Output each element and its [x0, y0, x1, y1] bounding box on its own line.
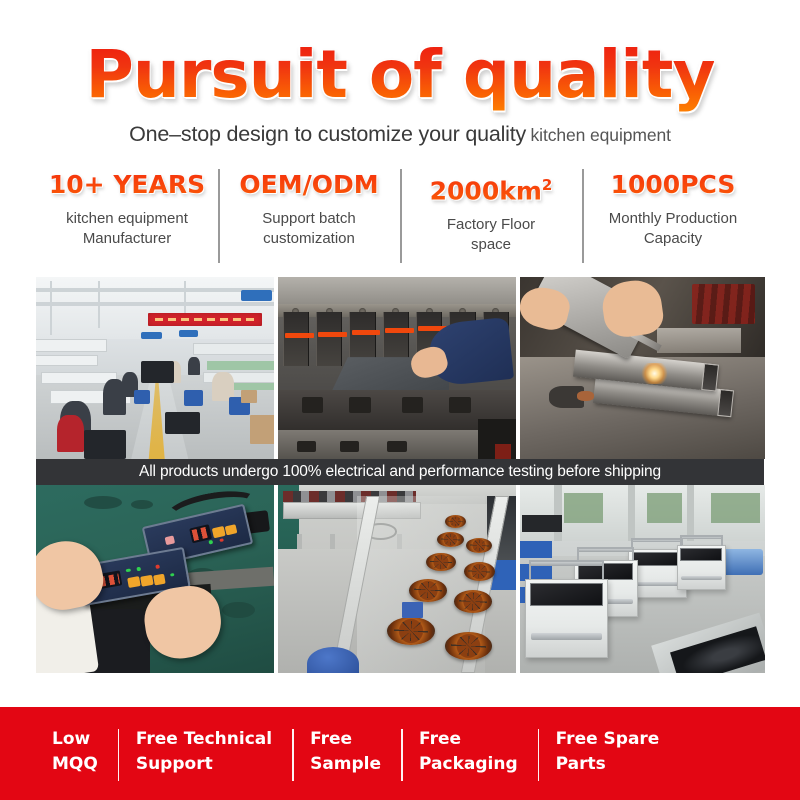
footer-items: Low MQQ Free Technical Support Free Samp… [52, 727, 752, 783]
stat-desc-line2: Capacity [644, 230, 702, 247]
headline-wrapper: Pursuit of quality [0, 38, 800, 112]
footer-item-line2: Support [136, 752, 272, 777]
stat-desc-line1: kitchen equipment [66, 210, 188, 227]
footer-item-free-spare-parts[interactable]: Free Spare Parts [534, 727, 676, 777]
page-title: Pursuit of quality [86, 38, 715, 112]
footer-item-line1: Free Technical [136, 729, 272, 749]
photo-burner-assembly-conveyor [278, 485, 516, 673]
footer-item-low-mqq[interactable]: Low MQQ [52, 727, 114, 777]
stat-item-factory-area: 2000km2 Factory Floor space [400, 165, 582, 265]
stat-item-years: 10+ YEARS kitchen equipment Manufacturer [36, 165, 218, 265]
stat-item-oem-odm: OEM/ODM Support batch customization [218, 165, 400, 265]
stat-description: Factory Floor space [404, 215, 578, 255]
stat-desc-line2: customization [263, 230, 355, 247]
stat-value: 10+ YEARS [40, 165, 214, 205]
photo-tube-welding [520, 277, 765, 459]
footer-item-line1: Free Spare [556, 729, 660, 749]
control-board-scene [36, 485, 274, 673]
photo-finished-induction-cookers [520, 485, 765, 673]
stat-value-number: 2000km [430, 176, 542, 205]
press-brake-scene [278, 277, 516, 459]
footer-item-line1: Low [52, 729, 90, 749]
footer-bar: Low MQQ Free Technical Support Free Samp… [0, 707, 800, 800]
stat-value: OEM/ODM [222, 165, 396, 205]
footer-item-line2: Sample [310, 752, 381, 777]
stat-desc-line2: space [471, 236, 511, 253]
assembly-line-scene [36, 277, 274, 459]
subtitle-primary: One–stop design to customize your qualit… [129, 122, 526, 146]
footer-item-free-packaging[interactable]: Free Packaging [397, 727, 534, 777]
tube-welding-scene [520, 277, 765, 459]
subtitle: One–stop design to customize your qualit… [0, 122, 800, 147]
subtitle-secondary: kitchen equipment [531, 125, 671, 145]
footer-item-line1: Free [419, 729, 461, 749]
photo-grid-row-bottom [36, 485, 765, 673]
photo-press-brake-bending [278, 277, 516, 459]
stat-description: kitchen equipment Manufacturer [40, 209, 214, 249]
photo-assembly-line-workshop [36, 277, 274, 459]
gallery-caption: All products undergo 100% electrical and… [36, 459, 764, 485]
induction-cookers-scene [520, 485, 765, 673]
stat-desc-line2: Manufacturer [83, 230, 171, 247]
footer-item-free-sample[interactable]: Free Sample [288, 727, 397, 777]
stat-description: Monthly Production Capacity [586, 209, 760, 249]
stat-desc-line1: Factory Floor [447, 216, 535, 233]
banner-page: Pursuit of quality One–stop design to cu… [0, 0, 800, 800]
footer-item-line2: Packaging [419, 752, 518, 777]
stat-value: 2000km2 [404, 165, 578, 211]
photo-control-board-testing [36, 485, 274, 673]
footer-item-line1: Free [310, 729, 352, 749]
footer-item-line2: MQQ [52, 752, 98, 777]
stat-description: Support batch customization [222, 209, 396, 249]
stat-desc-line1: Support batch [262, 210, 355, 227]
burner-conveyor-scene [278, 485, 516, 673]
stat-value-superscript: 2 [542, 176, 552, 194]
photo-grid: All products undergo 100% electrical and… [36, 277, 765, 673]
stats-row: 10+ YEARS kitchen equipment Manufacturer… [36, 165, 764, 265]
footer-item-line2: Parts [556, 752, 660, 777]
photo-grid-row-top [36, 277, 765, 459]
stat-value: 1000PCS [586, 165, 760, 205]
stat-item-monthly-capacity: 1000PCS Monthly Production Capacity [582, 165, 764, 265]
stat-desc-line1: Monthly Production [609, 210, 737, 227]
footer-item-free-technical-support[interactable]: Free Technical Support [114, 727, 288, 777]
